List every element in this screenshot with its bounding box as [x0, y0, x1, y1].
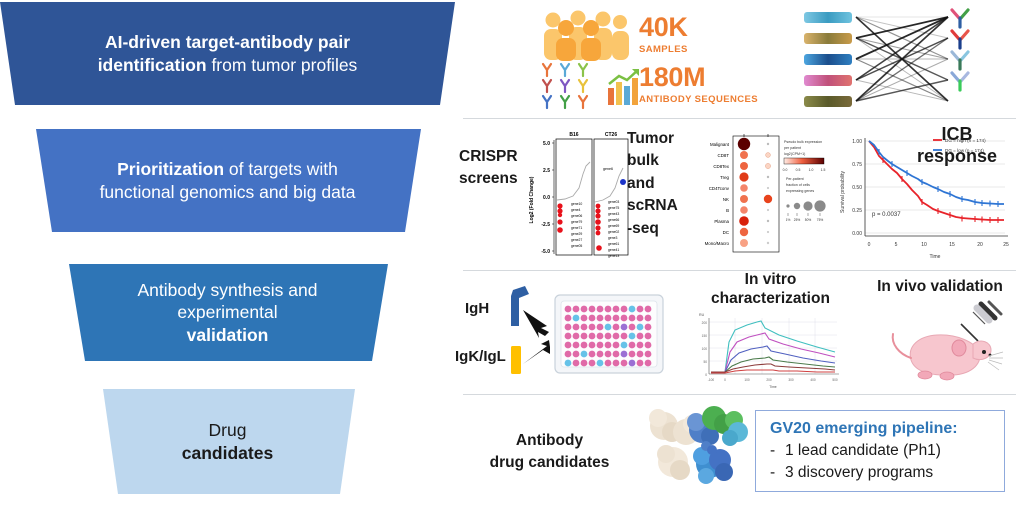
km-pvalue: p = 0.0037	[872, 212, 901, 218]
stage1-line2-bold: identification	[98, 55, 207, 75]
row-synthesis-validation: IgH IgK/IgL	[455, 272, 1024, 394]
funnel-stage-ai-identification[interactable]: AI-driven target-antibody pair identific…	[0, 2, 455, 105]
evidence-panel: 40K SAMPLES 180M ANTIBODY SEQUENCES	[455, 0, 1024, 506]
svg-text:0: 0	[705, 373, 707, 377]
arrow-igk-icon	[523, 340, 550, 364]
dotplot-legend-line6: expressing genes	[786, 189, 814, 193]
svg-text:gene13: gene13	[608, 254, 619, 258]
svg-text:1%: 1%	[786, 218, 791, 222]
svg-text:CT26: CT26	[605, 132, 617, 138]
svg-text:0.5: 0.5	[796, 168, 801, 172]
svg-text:50%: 50%	[805, 218, 812, 222]
in-vitro-title: In vitro characterization	[683, 270, 858, 309]
svg-text:0.0: 0.0	[543, 195, 550, 201]
svg-text:50: 50	[703, 360, 707, 364]
tumor-label-line3: and	[627, 175, 655, 192]
stage2-line1-bold: Prioritization	[117, 159, 224, 179]
svg-text:0.00: 0.00	[852, 231, 862, 237]
svg-text:-5.0: -5.0	[541, 249, 550, 255]
svg-text:5.0: 5.0	[543, 141, 550, 147]
funnel-stage-validation[interactable]: Antibody synthesis and experimental vali…	[0, 264, 455, 361]
svg-text:100: 100	[702, 347, 708, 351]
svg-text:gene06: gene06	[571, 214, 582, 218]
svg-text:300: 300	[788, 378, 794, 382]
pipeline-dash-0: -	[770, 440, 778, 462]
pipeline-title: GV20 emerging pipeline:	[770, 418, 994, 440]
pipeline-item-1: - 3 discovery programs	[770, 462, 994, 484]
igh-chain-icon	[511, 286, 529, 326]
crispr-screen-plot: Log2 (Fold Change) 5.02.5 0.0-2.5-5.0 B1…	[523, 126, 629, 266]
svg-text:200: 200	[766, 378, 772, 382]
pipeline-item-1-label: 3 discovery programs	[785, 462, 933, 484]
stat-sequences: 180M ANTIBODY SEQUENCES	[639, 64, 758, 105]
svg-text:1.0: 1.0	[809, 168, 814, 172]
icb-response-title: ICB response	[917, 124, 997, 167]
antibody-y-cluster-icon	[539, 62, 597, 110]
icb-title-line2: response	[917, 146, 997, 166]
svg-text:150: 150	[702, 334, 708, 338]
pipeline-item-0: - 1 lead candidate (Ph1)	[770, 440, 994, 462]
pipeline-dash-1: -	[770, 462, 778, 484]
stat-sequences-value: 180M	[639, 64, 758, 91]
mouse-injection-icon	[885, 300, 1005, 386]
svg-text:0.0: 0.0	[783, 168, 788, 172]
row-target-discovery: CRISPR screens Log2 (Fold Change) 5.02.5…	[455, 120, 1024, 270]
svg-text:100: 100	[744, 378, 750, 382]
crispr-highlight-gene: gene6	[603, 167, 613, 171]
stage1-line1: AI-driven target-antibody pair	[105, 32, 350, 52]
dotplot-legend-line3: log2(CPM+1)	[784, 152, 805, 156]
stage4-line2: candidates	[182, 443, 273, 463]
funnel-stage-prioritization[interactable]: Prioritization of targets with functiona…	[0, 129, 455, 232]
stage3-line3: validation	[187, 325, 269, 345]
funnel-stage-2-text: Prioritization of targets with functiona…	[60, 158, 396, 203]
funnel-stage-1-text: AI-driven target-antibody pair identific…	[58, 31, 398, 76]
scrna-dotplot: MalignantCD8TCD8Tex TregCD4TconvNK BPlas…	[683, 130, 828, 262]
pipeline-callout-box: GV20 emerging pipeline: - 1 lead candida…	[755, 410, 1005, 492]
growth-chart-icon	[607, 68, 641, 106]
stage3-line2: experimental	[177, 302, 277, 322]
stage4-line1: Drug	[209, 420, 247, 440]
stat-samples: 40K SAMPLES	[639, 14, 688, 55]
syringe-icon	[961, 302, 1001, 341]
tumor-label-line1: Tumor	[627, 130, 674, 147]
arrow-igh-icon	[523, 310, 549, 338]
stage1-line2-rest: from tumor profiles	[207, 55, 358, 75]
invitro-title-line2: characterization	[711, 290, 830, 307]
km-y-label: Survival probability	[840, 171, 846, 213]
row-data-scale: 40K SAMPLES 180M ANTIBODY SEQUENCES	[455, 0, 1024, 118]
svg-text:0.25: 0.25	[852, 208, 862, 214]
stage3-line1: Antibody synthesis and	[138, 280, 318, 300]
row-separator-3	[463, 394, 1016, 395]
svg-text:10: 10	[921, 242, 927, 248]
svg-text:gene4: gene4	[571, 208, 581, 212]
abdc-line1: Antibody	[516, 432, 583, 449]
svg-text:75%: 75%	[817, 218, 824, 222]
svg-text:500: 500	[832, 378, 838, 382]
svg-text:15: 15	[949, 242, 955, 248]
crispr-screens-label: CRISPR screens	[459, 146, 518, 190]
icb-title-line1: ICB	[942, 124, 973, 144]
tumor-label-line5: -seq	[627, 220, 659, 237]
svg-text:Plasma: Plasma	[714, 219, 729, 224]
invitro-title-line1: In vitro	[745, 271, 797, 288]
svg-text:Mono/Macro: Mono/Macro	[705, 241, 730, 246]
svg-text:5: 5	[895, 242, 898, 248]
stat-sequences-caption: ANTIBODY SEQUENCES	[639, 94, 758, 105]
dotplot-legend-line5: fraction of cells	[786, 183, 810, 187]
svg-text:0.50: 0.50	[852, 185, 862, 191]
svg-text:2.5: 2.5	[543, 168, 550, 174]
tumor-label-line4: scRNA	[627, 197, 678, 214]
svg-text:gene69: gene69	[608, 224, 619, 228]
funnel-stage-3-text: Antibody synthesis and experimental vali…	[98, 279, 358, 346]
svg-text:Treg: Treg	[720, 175, 729, 180]
in-vivo-title: In vivo validation	[860, 278, 1020, 296]
svg-text:20: 20	[977, 242, 983, 248]
crispr-y-axis-label: Log2 (Fold Change)	[529, 176, 535, 223]
svg-text:gene05: gene05	[571, 244, 582, 248]
svg-text:1.5: 1.5	[821, 168, 826, 172]
funnel-stage-drug-candidates[interactable]: Drug candidates	[0, 389, 455, 494]
svg-text:gene75: gene75	[608, 206, 619, 210]
antibody-structure-render	[640, 402, 752, 498]
target-antibody-network-diagram	[800, 4, 1010, 116]
svg-text:B16: B16	[569, 132, 578, 138]
svg-text:Malignant: Malignant	[710, 142, 730, 147]
svg-text:-2.5: -2.5	[541, 222, 550, 228]
spr-binding-curves-plot: RU 200150100 500 -1000100 200300400500 T…	[687, 308, 847, 390]
antibody-drug-candidates-label: Antibody drug candidates	[467, 430, 632, 473]
svg-text:gene43: gene43	[608, 212, 619, 216]
crispr-label-line2: screens	[459, 170, 518, 187]
96-well-plate	[554, 294, 664, 374]
people-group-icon	[540, 10, 630, 62]
svg-text:gene10: gene10	[571, 202, 582, 206]
svg-text:0.75: 0.75	[852, 162, 862, 168]
svg-text:B: B	[726, 208, 729, 213]
chain-arrows-icons	[503, 284, 553, 384]
antibody-right-structure	[687, 406, 748, 484]
stat-samples-value: 40K	[639, 14, 688, 41]
dotplot-legend-line2: per patient	[784, 146, 801, 150]
svg-text:200: 200	[702, 321, 708, 325]
igh-label: IgH	[465, 300, 489, 317]
row-separator-1	[463, 118, 1016, 119]
svg-text:CD8Tex: CD8Tex	[713, 164, 729, 169]
svg-text:gene41: gene41	[608, 248, 619, 252]
pipeline-funnel: AI-driven target-antibody pair identific…	[0, 0, 455, 506]
svg-text:CD4Tconv: CD4Tconv	[709, 186, 730, 191]
svg-text:gene29: gene29	[571, 232, 582, 236]
abdc-line2: drug candidates	[490, 454, 610, 471]
funnel-stage-4-text: Drug candidates	[142, 419, 313, 464]
svg-text:0: 0	[724, 378, 726, 382]
km-x-label: Time	[930, 254, 941, 260]
crispr-label-line1: CRISPR	[459, 148, 518, 165]
svg-text:gene02: gene02	[608, 230, 619, 234]
igk-igl-label: IgK/IgL	[455, 348, 506, 365]
svg-text:gene71: gene71	[571, 226, 582, 230]
svg-text:400: 400	[810, 378, 816, 382]
svg-text:25: 25	[1003, 242, 1009, 248]
spr-y-label: RU	[699, 313, 705, 317]
svg-text:1.00: 1.00	[852, 139, 862, 145]
svg-text:gene79: gene79	[571, 220, 582, 224]
tumor-label-line2: bulk	[627, 152, 659, 169]
svg-text:gene3: gene3	[608, 236, 618, 240]
svg-text:0: 0	[868, 242, 871, 248]
svg-text:-100: -100	[708, 378, 715, 382]
svg-text:gene27: gene27	[571, 238, 582, 242]
dotplot-legend-line4: Per-patient	[786, 177, 804, 181]
svg-text:NK: NK	[723, 197, 729, 202]
stage2-line2: functional genomics and big data	[100, 182, 356, 202]
svg-text:gene66: gene66	[608, 218, 619, 222]
stat-samples-caption: SAMPLES	[639, 44, 688, 55]
stage2-line1-rest: of targets with	[224, 159, 338, 179]
spr-x-label: Time	[769, 385, 777, 389]
svg-text:CD8T: CD8T	[718, 153, 730, 158]
row-drug-candidates: Antibody drug candidates	[455, 396, 1024, 506]
svg-text:DC: DC	[723, 230, 729, 235]
dotplot-legend-line1: Pseudo bulk expression	[784, 140, 822, 144]
svg-text:gene61: gene61	[608, 242, 619, 246]
svg-text:25%: 25%	[794, 218, 801, 222]
igk-chain-icon	[511, 346, 521, 374]
pipeline-item-0-label: 1 lead candidate (Ph1)	[785, 440, 941, 462]
svg-text:gene03: gene03	[608, 200, 619, 204]
tumor-scrna-label: Tumor bulk and scRNA -seq	[627, 128, 678, 240]
